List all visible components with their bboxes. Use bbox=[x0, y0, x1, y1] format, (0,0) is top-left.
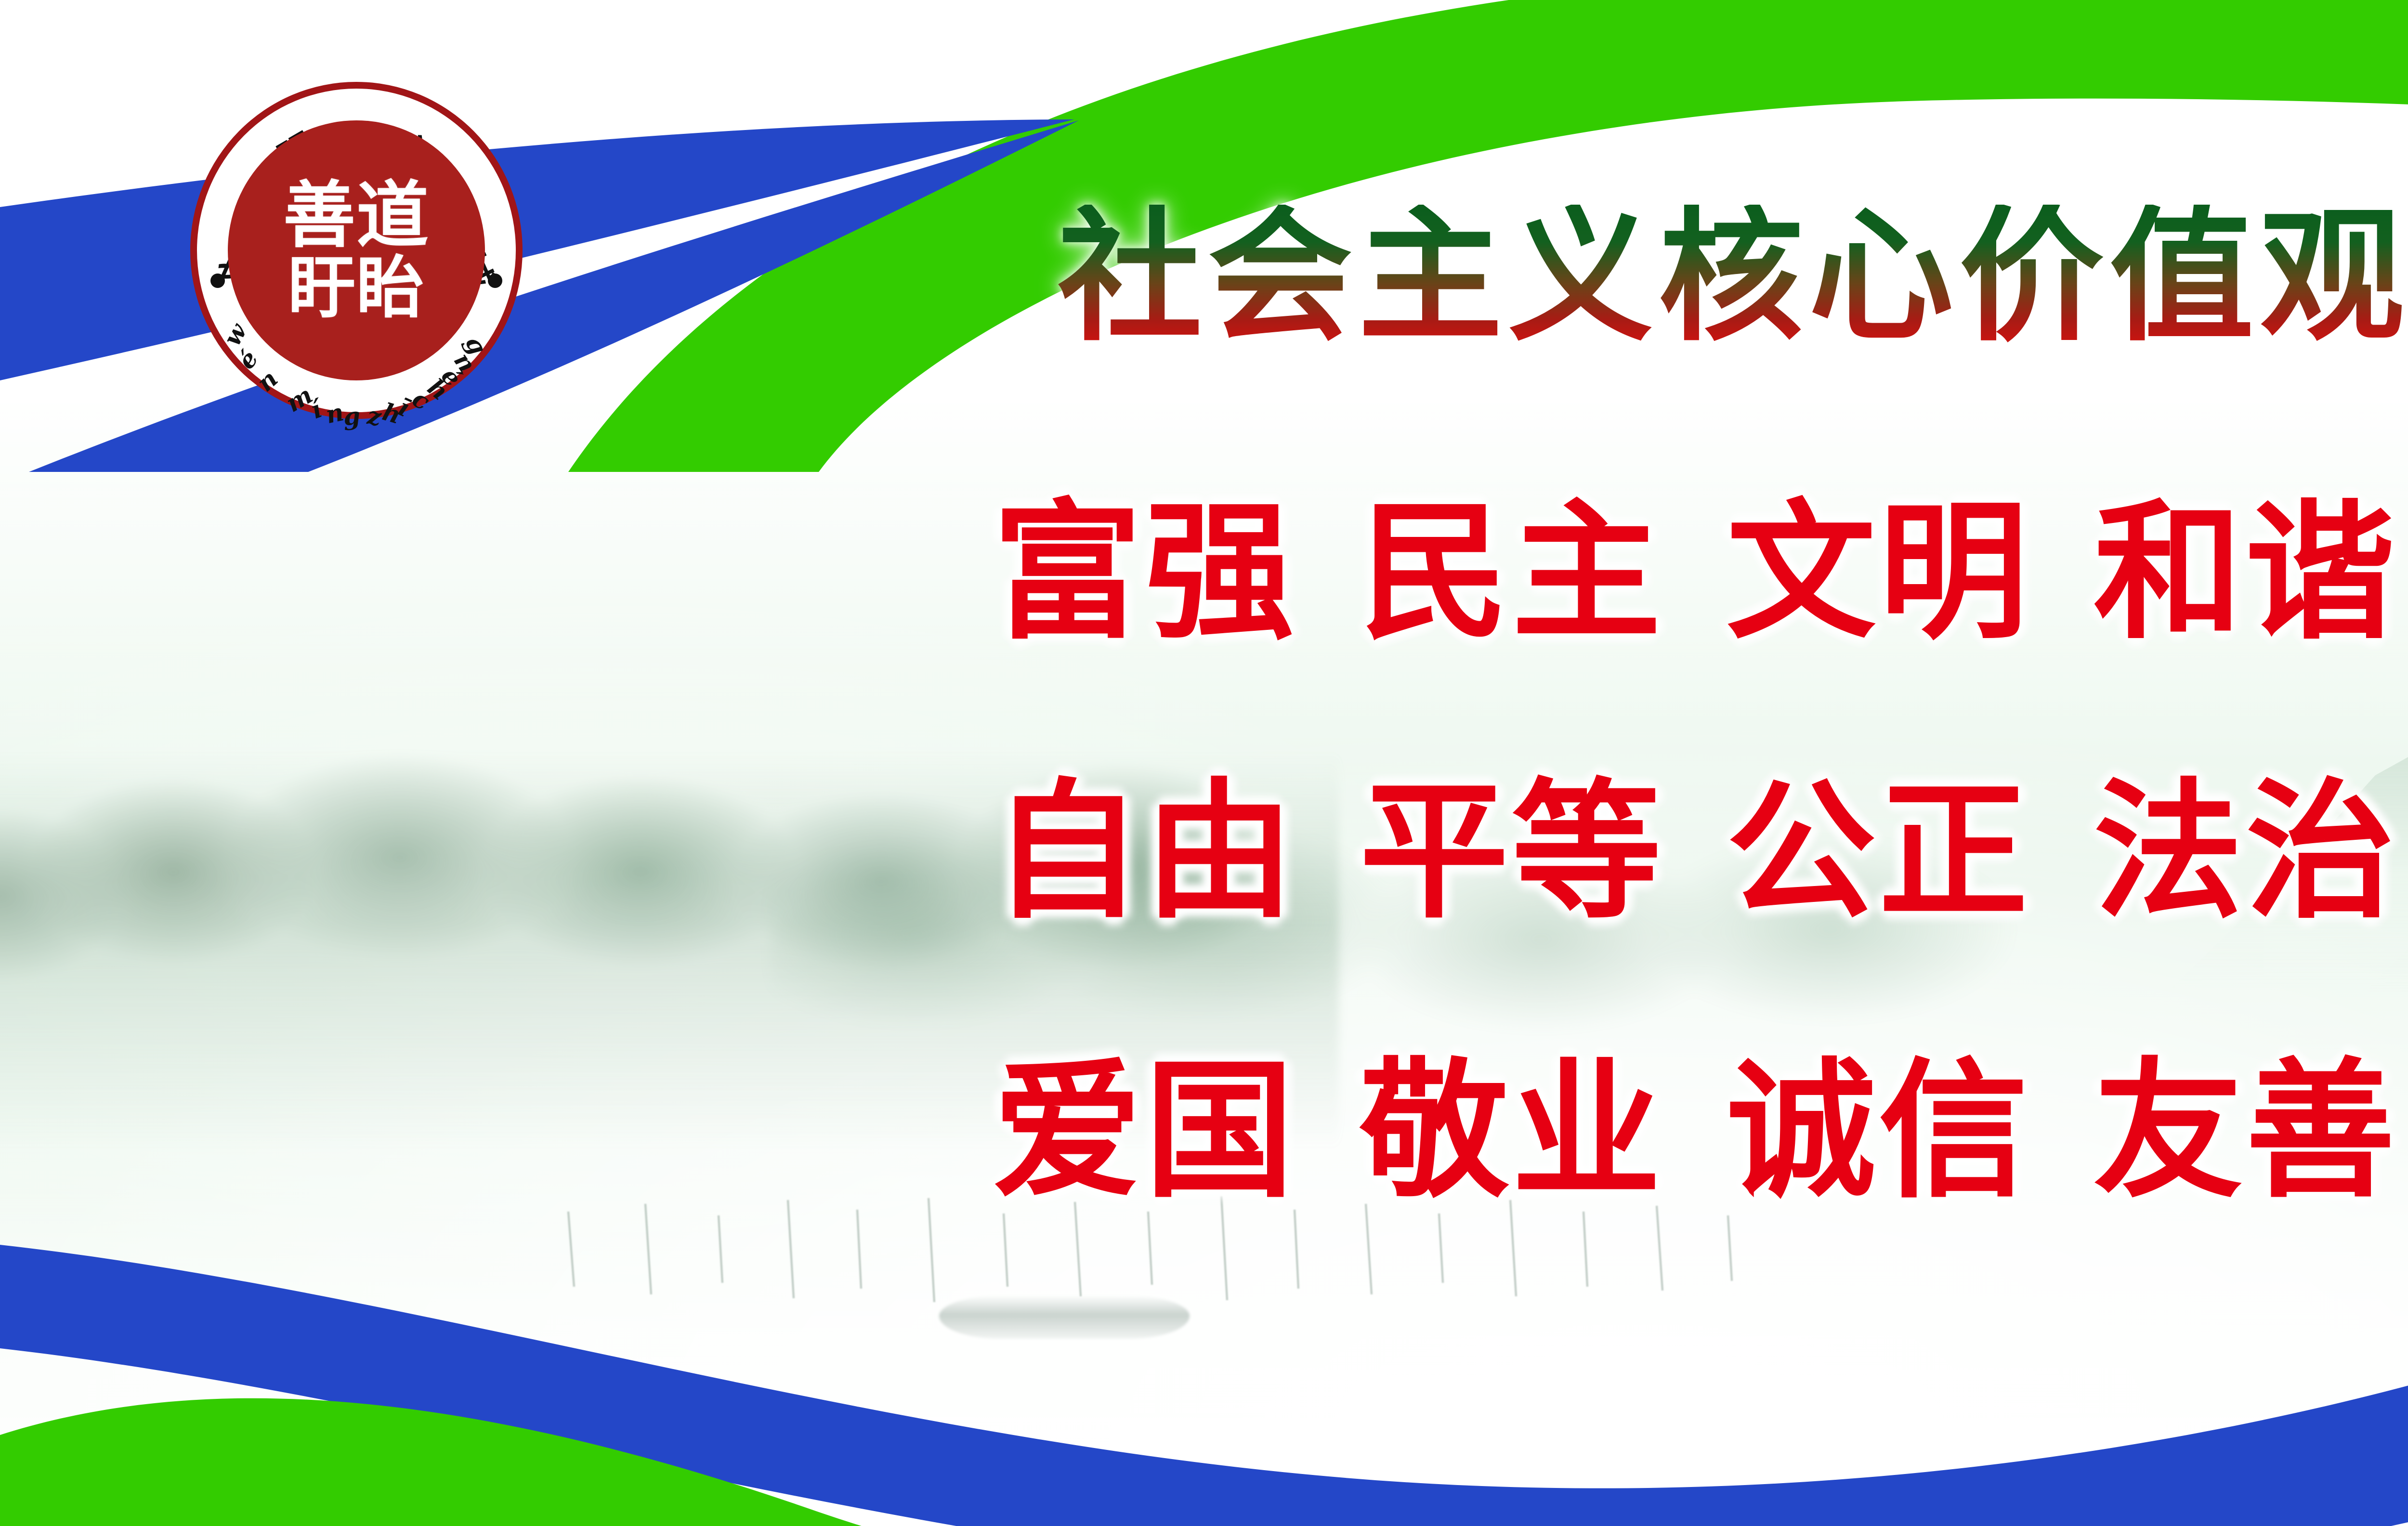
value-row-2: 自由平等公正法治 bbox=[703, 778, 2408, 927]
value-row-1: 富强民主文明和谐 bbox=[703, 498, 2408, 648]
propaganda-board: 文 明 之 城 w é n m í n g z h ī c h é n g 善道… bbox=[0, 0, 2408, 1526]
page-title: 社会主义核心价值观 bbox=[819, 205, 2408, 349]
board-content: 社会主义核心价值观 富强民主文明和谐 自由平等公正法治 爱国敬业诚信友善 bbox=[0, 0, 2408, 1526]
value-row-3: 爱国敬业诚信友善 bbox=[703, 1057, 2408, 1206]
